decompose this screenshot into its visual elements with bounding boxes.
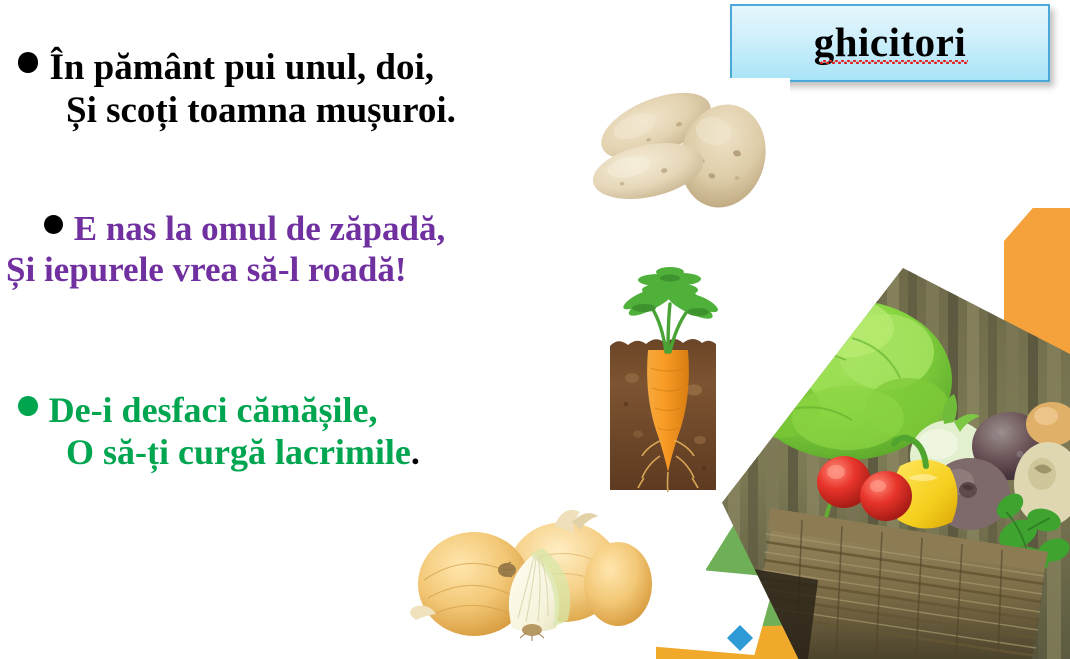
riddle-3-line-2-text: O să-ți curgă lacrimile — [66, 432, 411, 472]
carrot-image — [604, 228, 732, 494]
bullet-icon — [44, 215, 63, 234]
slide-canvas: ghicitori În pământ pui unul, doi, Și sc… — [0, 0, 1070, 659]
onion-image — [404, 496, 656, 659]
page-title: ghicitori — [814, 22, 967, 65]
riddle-1-line-1-text: În pământ pui unul, doi, — [49, 47, 434, 88]
bullet-icon — [18, 396, 38, 416]
riddle-item-1: În pământ pui unul, doi, Și scoți toamna… — [18, 46, 456, 133]
riddle-item-3: De-i desfaci cămășile, O să-ți curgă lac… — [18, 389, 420, 473]
riddle-3-line-1: De-i desfaci cămășile, — [18, 389, 420, 431]
riddle-1-line-2: Și scoți toamna mușuroi. — [18, 89, 456, 132]
riddle-3-line-2: O să-ți curgă lacrimile. — [18, 431, 420, 473]
riddle-2-line-2: Și iepurele vrea să-l roadă! — [6, 250, 445, 291]
page-title-text: ghicitori — [814, 19, 967, 65]
potato-image — [586, 78, 790, 218]
spellcheck-squiggle-icon — [820, 60, 969, 64]
bullet-icon — [18, 52, 38, 72]
riddle-3-final-punctuation: . — [411, 432, 420, 472]
title-box: ghicitori — [730, 4, 1050, 82]
riddle-2-line-1: E nas la omul de zăpadă, — [44, 209, 445, 250]
riddle-1-line-1: În pământ pui unul, doi, — [18, 46, 456, 89]
riddle-item-2: E nas la omul de zăpadă, Și iepurele vre… — [44, 209, 445, 291]
riddle-2-line-1-text: E nas la omul de zăpadă, — [74, 209, 445, 248]
riddle-3-line-1-text: De-i desfaci cămășile, — [49, 390, 378, 430]
